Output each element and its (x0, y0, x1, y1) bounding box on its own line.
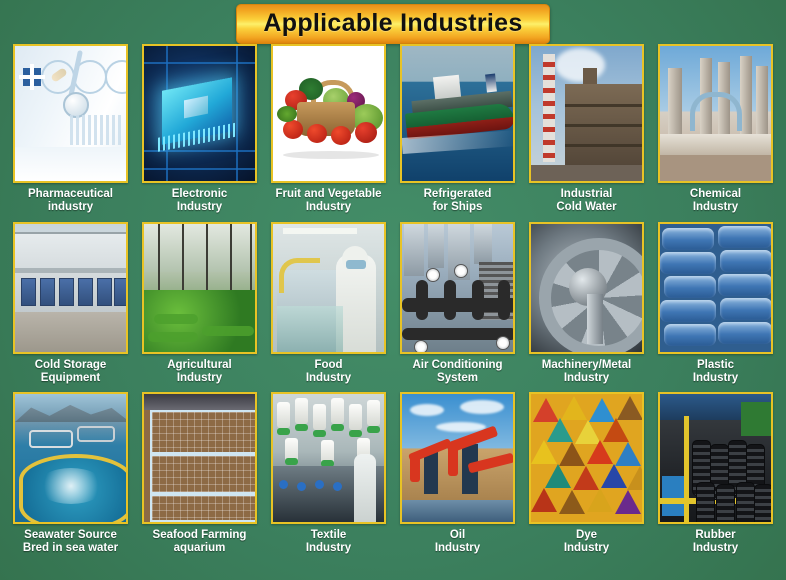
card-label: Food Industry (268, 359, 390, 385)
card-label: Agricultural Industry (139, 359, 261, 385)
industries-grid: Pharmaceutical industry Electronic Indus… (0, 44, 786, 580)
card-label: Electronic Industry (139, 188, 261, 214)
page-title: Applicable Industries (263, 9, 522, 37)
card-label: Air Conditioning System (397, 359, 519, 385)
industry-card-dye[interactable]: Dye Industry (523, 392, 650, 580)
applicable-industries-poster: Applicable Industries Pharmaceutical ind… (0, 0, 786, 580)
plastic-bundles-icon (660, 224, 771, 352)
industry-card-pharmaceutical[interactable]: Pharmaceutical industry (7, 44, 134, 222)
card-label: Oil Industry (397, 529, 519, 555)
card-image-frame (529, 44, 644, 183)
industry-card-chemical[interactable]: Chemical Industry (652, 44, 779, 222)
card-image-frame (658, 44, 773, 183)
industry-card-fruit-vegetable[interactable]: Fruit and Vegetable Industry (265, 44, 392, 222)
card-image-frame (658, 392, 773, 524)
card-label: Pharmaceutical industry (10, 188, 132, 214)
cpu-chip-icon (144, 46, 255, 181)
pharmaceutical-lab-icon (15, 46, 126, 181)
card-image-frame (658, 222, 773, 354)
industry-card-air-conditioning[interactable]: Air Conditioning System (394, 222, 521, 392)
title-banner-wrap: Applicable Industries (0, 4, 786, 44)
industry-card-refrigerated-ships[interactable]: Refrigerated for Ships (394, 44, 521, 222)
card-image-frame (13, 44, 128, 183)
industry-card-plastic[interactable]: Plastic Industry (652, 222, 779, 392)
card-image-frame (400, 392, 515, 524)
card-image-frame (142, 392, 257, 524)
card-label: Textile Industry (268, 529, 390, 555)
gear-machinery-icon (531, 224, 642, 352)
card-label: Fruit and Vegetable Industry (268, 188, 390, 214)
industry-card-seawater-source[interactable]: Seawater Source Bred in sea water (7, 392, 134, 580)
card-label: Chemical Industry (655, 188, 777, 214)
greenhouse-icon (144, 224, 255, 352)
industry-card-seafood-farming[interactable]: Seafood Farming aquarium (136, 392, 263, 580)
textile-spools-icon (273, 394, 384, 522)
card-label: Industrial Cold Water (526, 188, 648, 214)
card-label: Rubber Industry (655, 529, 777, 555)
industry-card-rubber[interactable]: Rubber Industry (652, 392, 779, 580)
aquarium-tanks-icon (144, 394, 255, 522)
industry-card-machinery-metal[interactable]: Machinery/Metal Industry (523, 222, 650, 392)
industry-card-textile[interactable]: Textile Industry (265, 392, 392, 580)
industries-row-2: Cold Storage Equipment Agricultur (0, 222, 786, 392)
card-label: Seafood Farming aquarium (139, 529, 261, 555)
cold-storage-warehouse-icon (15, 224, 126, 352)
industry-card-industrial-cold-water[interactable]: Industrial Cold Water (523, 44, 650, 222)
card-image-frame (13, 392, 128, 524)
hvac-pipes-icon (402, 224, 513, 352)
food-plant-worker-icon (273, 224, 384, 352)
industrial-plant-icon (531, 46, 642, 181)
card-image-frame (271, 222, 386, 354)
card-image-frame (529, 222, 644, 354)
industry-card-oil[interactable]: Oil Industry (394, 392, 521, 580)
card-image-frame (13, 222, 128, 354)
card-image-frame (271, 392, 386, 524)
card-image-frame (529, 392, 644, 524)
fish-farm-pen-icon (15, 394, 126, 522)
dye-powder-cones-icon (531, 394, 642, 522)
card-label: Cold Storage Equipment (10, 359, 132, 385)
card-image-frame (400, 222, 515, 354)
card-image-frame (142, 44, 257, 183)
card-image-frame (271, 44, 386, 183)
industries-row-3: Seawater Source Bred in sea water Seafoo… (0, 392, 786, 580)
card-image-frame (400, 44, 515, 183)
title-banner: Applicable Industries (236, 4, 549, 44)
industries-row-1: Pharmaceutical industry Electronic Indus… (0, 44, 786, 222)
container-ship-icon (402, 46, 513, 181)
card-label: Seawater Source Bred in sea water (10, 529, 132, 555)
card-label: Machinery/Metal Industry (526, 359, 648, 385)
card-label: Refrigerated for Ships (397, 188, 519, 214)
industry-card-electronic[interactable]: Electronic Industry (136, 44, 263, 222)
vegetable-basket-icon (273, 46, 384, 181)
card-image-frame (142, 222, 257, 354)
industry-card-cold-storage[interactable]: Cold Storage Equipment (7, 222, 134, 392)
oil-pumpjack-icon (402, 394, 513, 522)
tire-stack-icon (660, 394, 771, 522)
chemical-refinery-icon (660, 46, 771, 181)
industry-card-agricultural[interactable]: Agricultural Industry (136, 222, 263, 392)
card-label: Plastic Industry (655, 359, 777, 385)
industry-card-food[interactable]: Food Industry (265, 222, 392, 392)
card-label: Dye Industry (526, 529, 648, 555)
